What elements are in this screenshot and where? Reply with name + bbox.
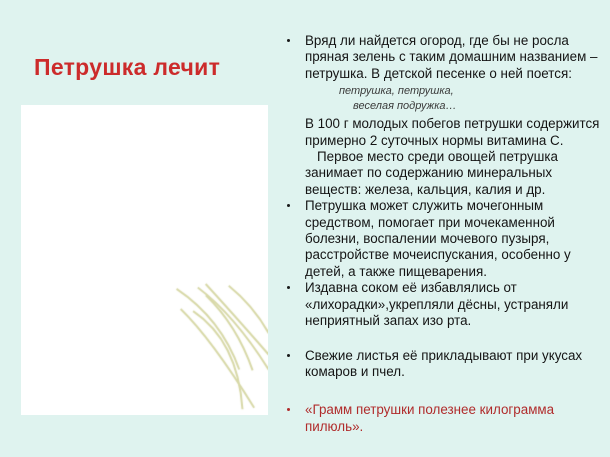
list-item: Свежие листья её прикладывают при укусах… xyxy=(283,348,605,381)
body-content: Вряд ли найдется огород, где бы не росла… xyxy=(283,33,605,435)
song-lyrics-line-2: веселая подружка… xyxy=(339,99,605,114)
list-item: Вряд ли найдется огород, где бы не росла… xyxy=(283,33,605,82)
bullet-marker-icon xyxy=(287,39,290,42)
list-item-text: Петрушка может служить мочегонным средст… xyxy=(305,198,605,280)
song-lyrics-line-1: петрушка, петрушка, xyxy=(339,85,454,97)
list-item-text: «Грамм петрушки полезнее килограмма пилю… xyxy=(305,402,605,435)
list-item-highlight: «Грамм петрушки полезнее килограмма пилю… xyxy=(283,402,605,435)
bullet-marker-icon xyxy=(287,354,290,357)
bullet-marker-icon xyxy=(287,286,290,289)
bullet-marker-icon xyxy=(287,408,290,411)
parsley-photo xyxy=(21,105,268,415)
list-item-text: Свежие листья её прикладывают при укусах… xyxy=(305,348,605,381)
song-lyrics: петрушка, петрушка, веселая подружка… xyxy=(283,84,605,114)
list-item: Первое место среди овощей петрушка заним… xyxy=(283,149,605,198)
list-item-text: Вряд ли найдется огород, где бы не росла… xyxy=(305,33,605,82)
list-item-text: Издавна соком её избавлялись от «лихорад… xyxy=(305,280,605,329)
presentation-slide: Петрушка лечит Вряд ли найдется огород, … xyxy=(0,0,610,457)
list-item: Издавна соком её избавлялись от «лихорад… xyxy=(283,280,605,329)
bullet-marker-icon xyxy=(287,204,290,207)
parsley-photo-image xyxy=(21,105,268,415)
spacer xyxy=(283,330,605,348)
list-item-text: В 100 г молодых побегов петрушки содержи… xyxy=(305,116,605,149)
spacer xyxy=(283,380,605,402)
list-item-text: Первое место среди овощей петрушка заним… xyxy=(305,149,605,198)
list-item: В 100 г молодых побегов петрушки содержи… xyxy=(283,116,605,149)
page-title: Петрушка лечит xyxy=(34,53,270,81)
list-item: Петрушка может служить мочегонным средст… xyxy=(283,198,605,280)
